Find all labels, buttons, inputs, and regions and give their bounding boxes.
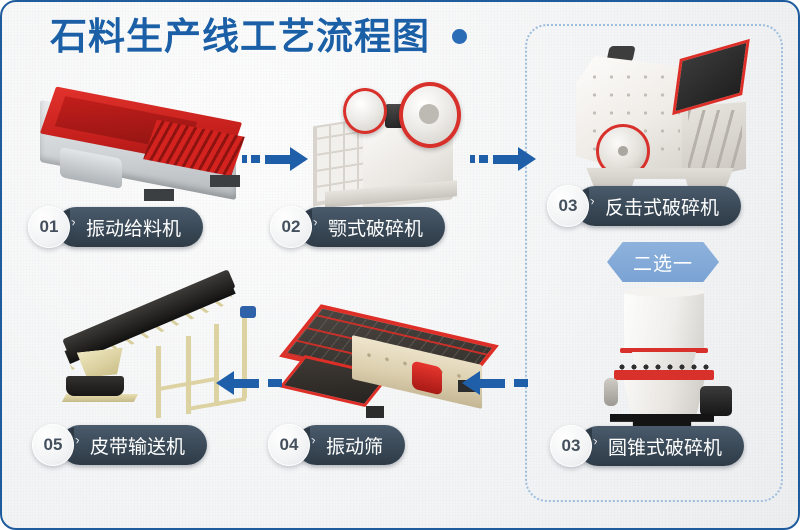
cone-bolt-row [616, 362, 712, 372]
arrow-stem [265, 155, 291, 164]
choose-one-of-two-badge: 二选一 [607, 242, 719, 282]
step-label-text: 反击式破碎机 [605, 193, 719, 220]
step-label-04[interactable]: 04 › 振动筛 [268, 425, 405, 465]
step-number-badge: 03 [550, 425, 592, 467]
step-label-text: 振动筛 [326, 432, 383, 459]
page-title: 石料生产线工艺流程图 [50, 18, 430, 55]
arrow-stem [479, 379, 505, 388]
arrow-dash-small [277, 379, 282, 387]
arrow-head-left-icon [462, 371, 480, 395]
screen-mount [366, 406, 384, 418]
page-title-group: 石料生产线工艺流程图 [50, 18, 467, 55]
belt-conveyor-image [64, 302, 259, 437]
cone-drive-motor [700, 386, 732, 416]
step-number-badge: 04 [268, 424, 310, 466]
chevron-right-icon: › [70, 214, 77, 230]
jaw-crusher-image [307, 74, 482, 209]
step-name-pill[interactable]: › 颚式破碎机 [298, 207, 445, 247]
feeder-foot [210, 175, 240, 187]
cone-accumulator [604, 378, 618, 406]
arrow-jaw-to-impact [470, 148, 536, 170]
arrow-dash-large [514, 379, 523, 387]
impact-ribs [688, 110, 742, 172]
chevron-right-icon: › [74, 432, 81, 448]
step-name-pill[interactable]: › 圆锥式破碎机 [578, 426, 744, 466]
step-label-03-impact[interactable]: 03 › 反击式破碎机 [547, 186, 741, 226]
feeder-foot [144, 189, 174, 201]
step-number-badge: 05 [32, 424, 74, 466]
step-label-05[interactable]: 05 › 皮带输送机 [32, 425, 207, 465]
conveyor-tail-pulley [66, 376, 124, 396]
chevron-right-icon: › [592, 433, 599, 449]
arrow-head-right-icon [518, 147, 536, 171]
step-label-02[interactable]: 02 › 颚式破碎机 [270, 207, 445, 247]
arrow-head-right-icon [290, 147, 308, 171]
title-dot-icon [452, 29, 467, 44]
vibrating-feeder-image [24, 97, 254, 207]
arrow-feeder-to-jaw [242, 148, 308, 170]
step-name-pill[interactable]: › 振动给料机 [56, 207, 203, 247]
step-label-text: 颚式破碎机 [328, 214, 423, 241]
arrow-cone-to-screen [462, 372, 528, 394]
step-name-pill[interactable]: › 皮带输送机 [60, 425, 207, 465]
arrow-stem [493, 155, 519, 164]
flow-diagram-poster: 石料生产线工艺流程图 二选一 [0, 0, 800, 530]
impact-crusher-image [572, 50, 754, 205]
arrow-dash-large [251, 155, 260, 163]
step-label-01[interactable]: 01 › 振动给料机 [28, 207, 203, 247]
step-label-text: 皮带输送机 [90, 432, 185, 459]
arrow-dash-small [242, 155, 247, 163]
step-name-pill[interactable]: › 振动筛 [296, 425, 405, 465]
step-label-text: 振动给料机 [86, 214, 181, 241]
jaw-flywheel-rear [343, 88, 387, 134]
vibrating-screen-image [290, 314, 490, 426]
step-name-pill[interactable]: › 反击式破碎机 [575, 186, 741, 226]
conveyor-head-pulley [240, 306, 256, 318]
conveyor-loading-hopper [77, 348, 125, 379]
conveyor-support [156, 346, 161, 418]
step-number-badge: 01 [28, 206, 70, 248]
arrow-stem [233, 379, 259, 388]
arrow-screen-to-conveyor [216, 372, 282, 394]
chevron-right-icon: › [312, 214, 319, 230]
arrow-head-left-icon [216, 371, 234, 395]
chevron-right-icon: › [310, 432, 317, 448]
step-label-text: 圆锥式破碎机 [608, 433, 722, 460]
arrow-dash-large [268, 379, 277, 387]
step-label-03-cone[interactable]: 03 › 圆锥式破碎机 [550, 426, 744, 466]
step-number-badge: 03 [547, 185, 589, 227]
jaw-flywheel-hub [419, 104, 439, 124]
arrow-dash-large [479, 155, 488, 163]
arrow-dash-small [470, 155, 475, 163]
arrow-dash-small [523, 379, 528, 387]
cone-upper-cylinder [624, 292, 704, 350]
step-number-badge: 02 [270, 206, 312, 248]
conveyor-belt [62, 269, 236, 358]
chevron-right-icon: › [589, 193, 596, 209]
conveyor-support [186, 336, 191, 414]
